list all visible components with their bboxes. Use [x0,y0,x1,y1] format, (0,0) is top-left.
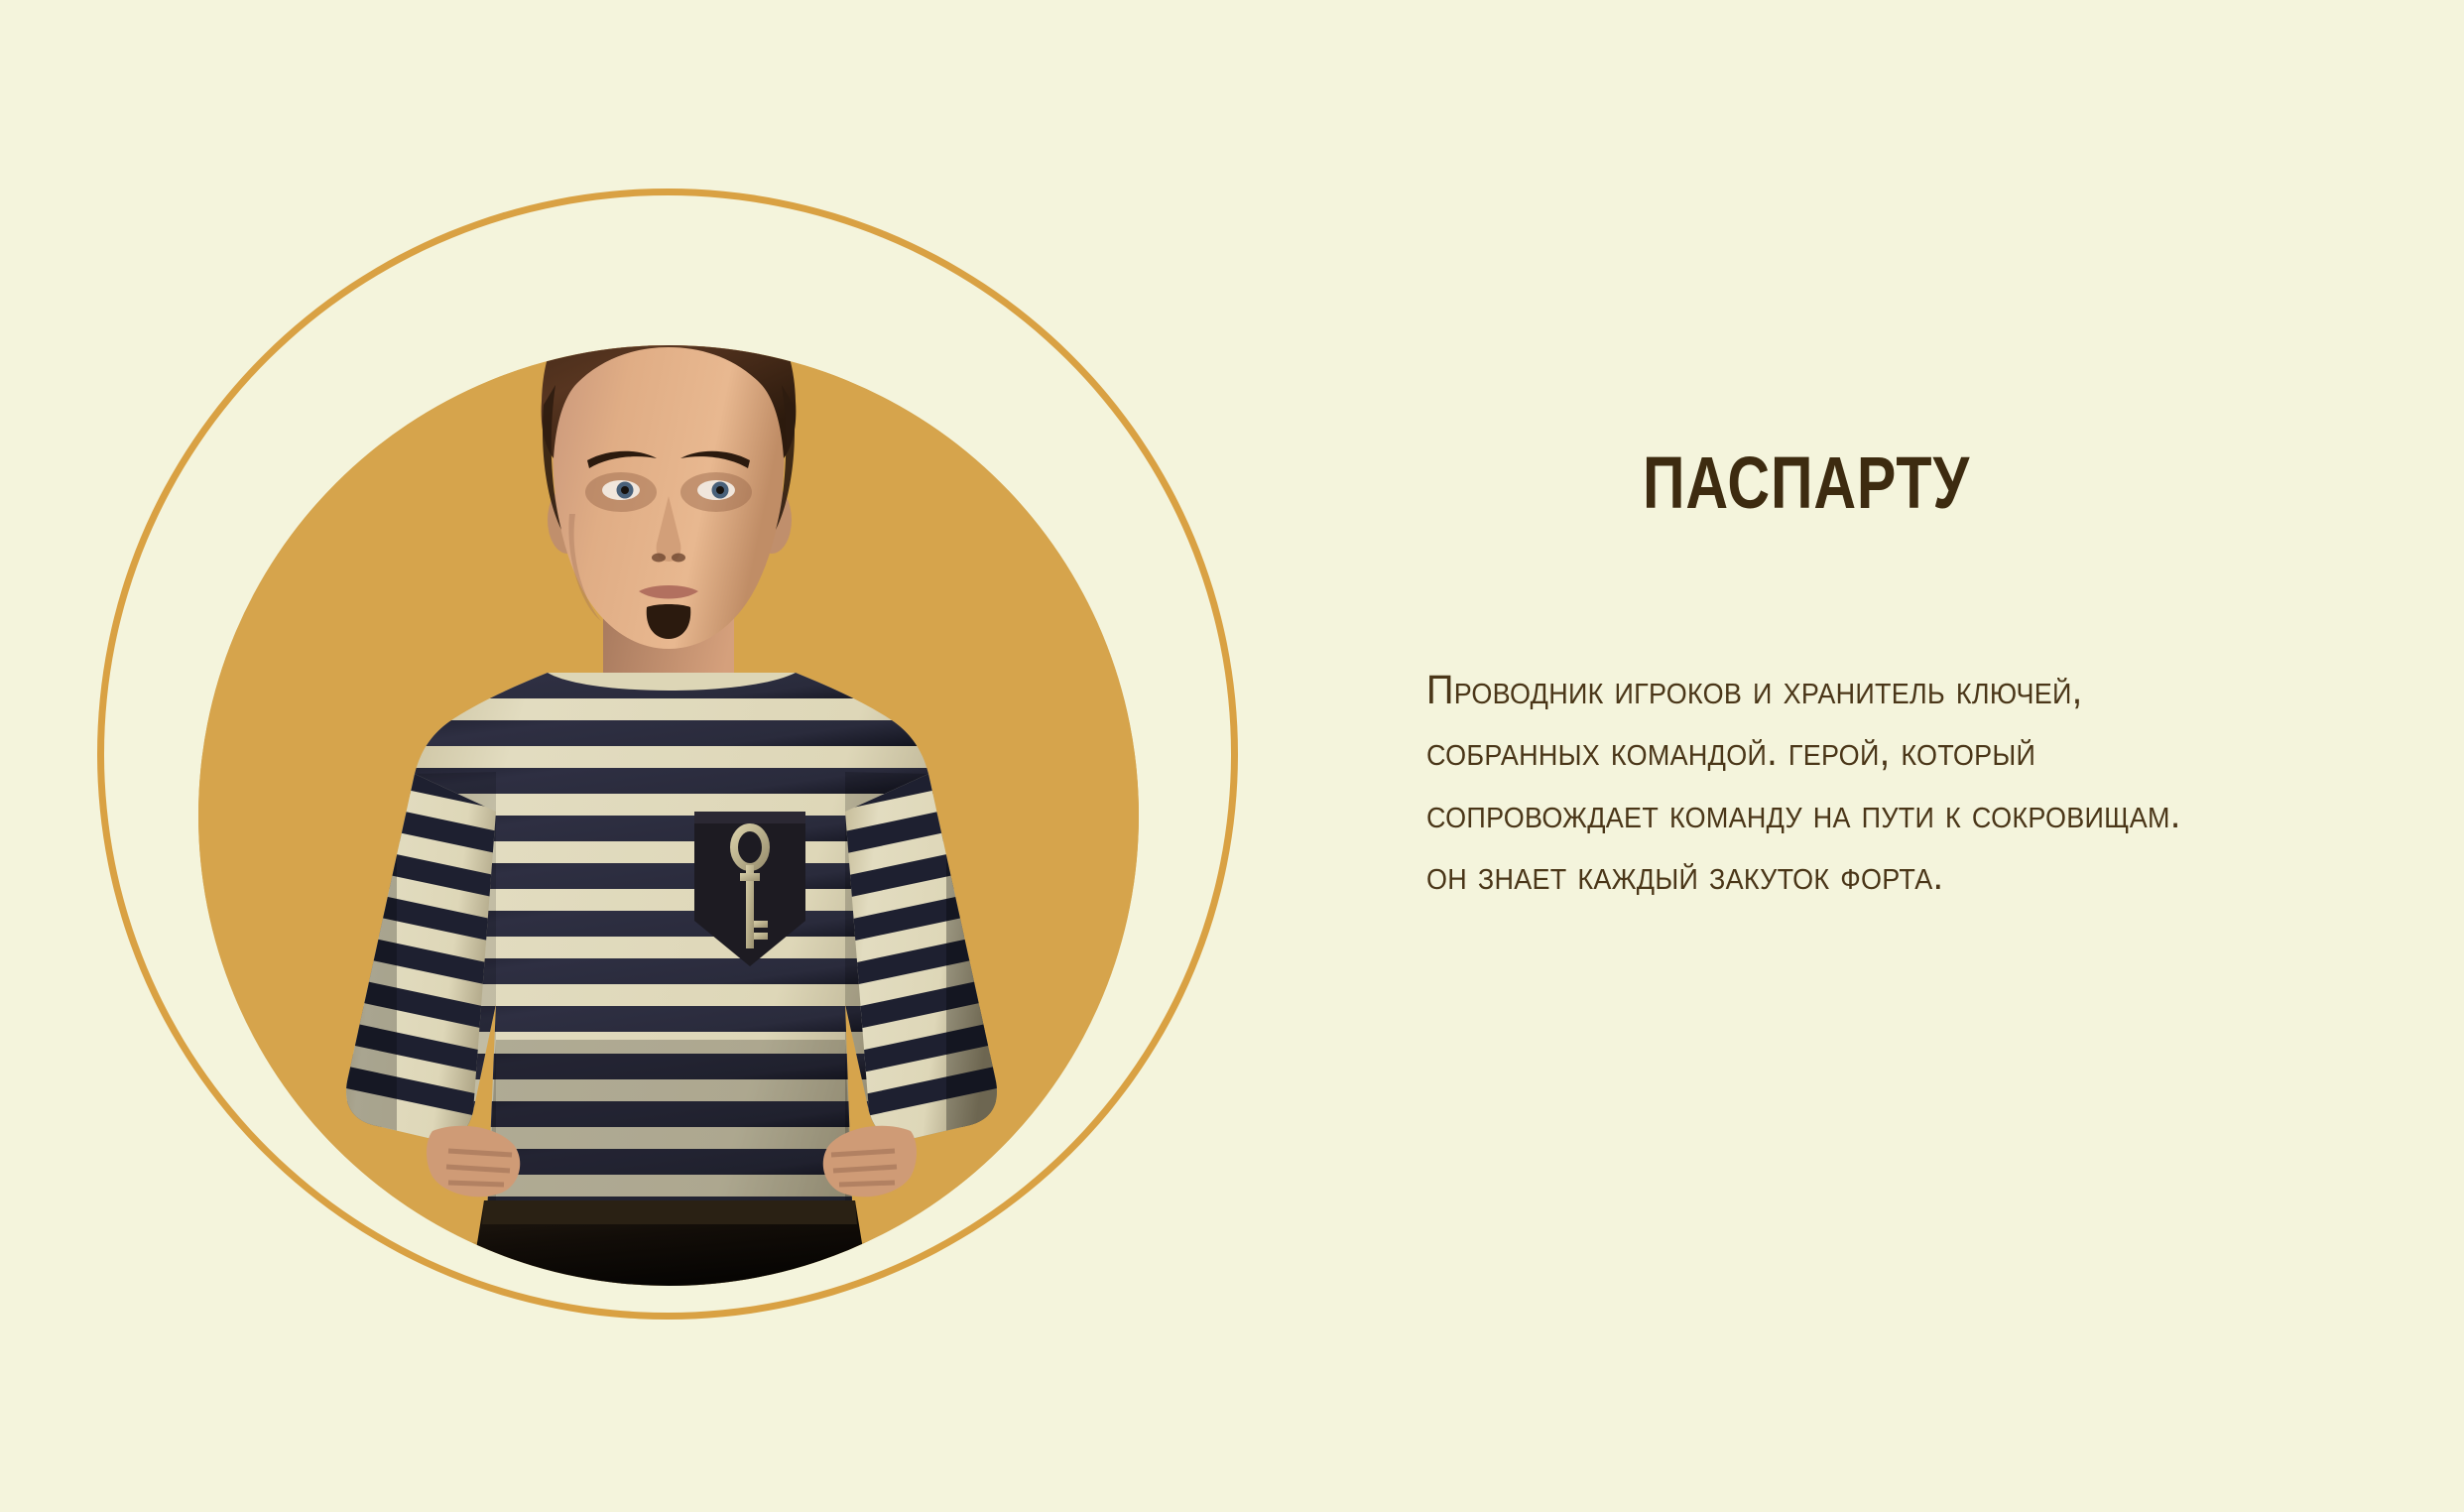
portrait-medallion [97,189,1244,1325]
page-title: ПАСПАРТУ [1596,446,2017,520]
character-description: Проводник игроков и хранитель ключей, со… [1426,659,2206,906]
slide-canvas: ПАСПАРТУ Проводник игроков и хранитель к… [0,0,2464,1512]
character-info-panel: ПАСПАРТУ Проводник игроков и хранитель к… [1426,248,2319,906]
character-photo [198,345,1139,1286]
